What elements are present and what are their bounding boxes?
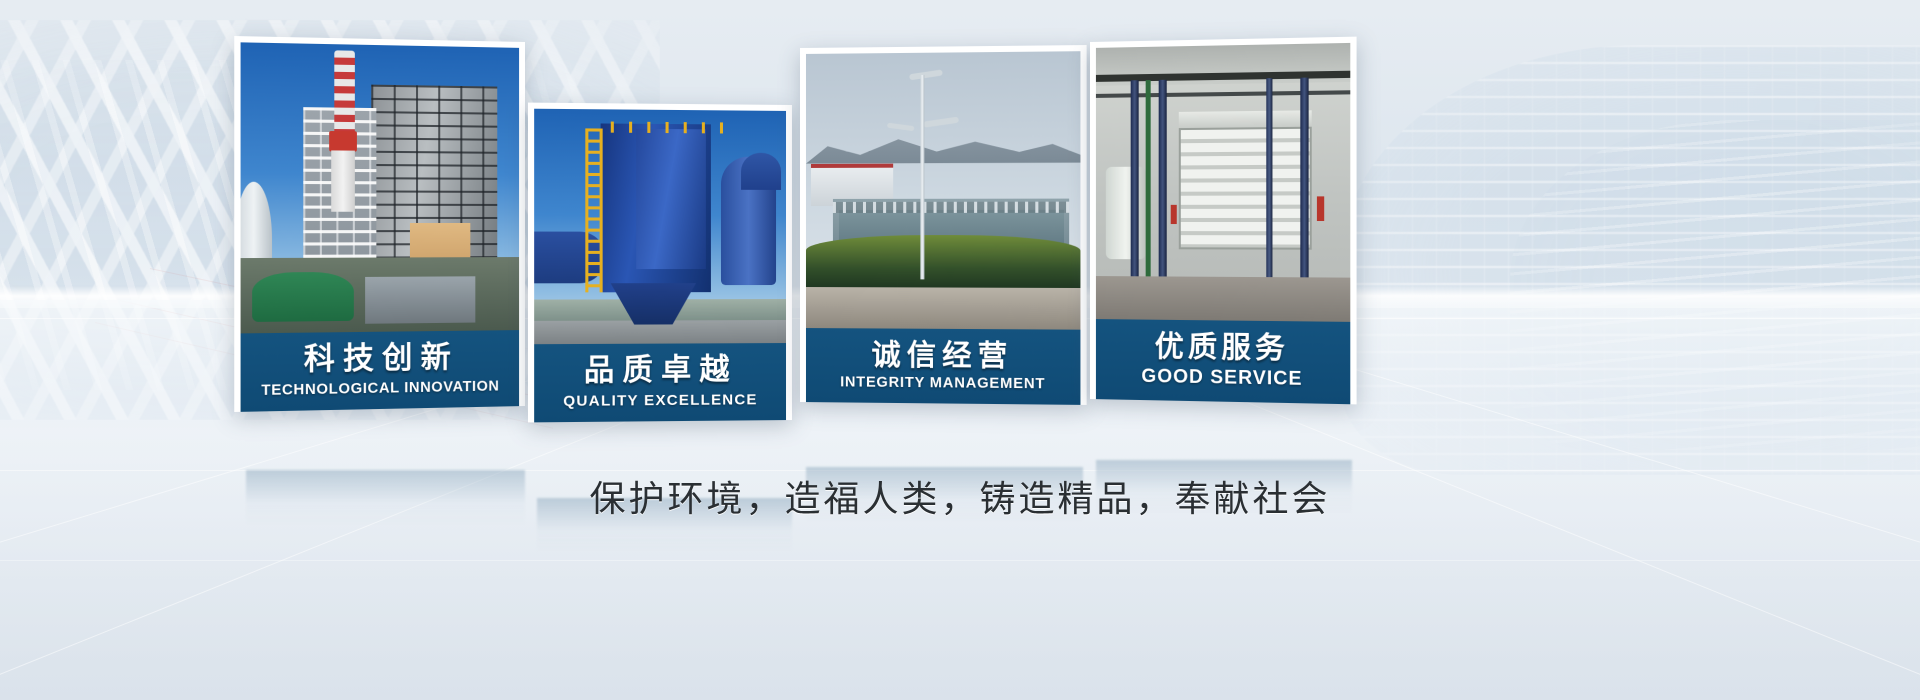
photo-membrane-top [1178,110,1311,128]
photo-white-tank [1106,167,1146,260]
photo-lamp-pole [920,75,924,279]
photo-red-valve [1317,196,1324,221]
photo-blue-pipe [1300,77,1308,288]
photo-red-valve [1171,205,1177,224]
photo-equipment-box [365,277,475,324]
panel-caption: 诚信经营 INTEGRITY MANAGEMENT [806,328,1080,405]
photo-blue-pipe [1158,79,1166,287]
photo-yellow-railing [610,121,723,134]
photo-walkway [833,202,1069,213]
panel-photo-dust-collector [534,109,786,344]
photo-chimney-band [329,131,357,152]
photo-duct-elbow [741,152,781,189]
banner-stage: 科技创新 TECHNOLOGICAL INNOVATION 品质卓越 QUALI… [0,0,1920,700]
panel-caption-cn: 优质服务 [1100,329,1346,365]
panel-caption: 科技创新 TECHNOLOGICAL INNOVATION [241,330,520,411]
photo-membrane-rack [1178,127,1311,249]
feature-panel-quality-excellence[interactable]: 品质卓越 QUALITY EXCELLENCE [528,103,792,422]
feature-panel-good-service[interactable]: 优质服务 GOOD SERVICE [1090,37,1357,405]
banner-slogan: 保护环境，造福人类，铸造精品，奉献社会 [0,470,1920,522]
photo-floor [1096,276,1350,322]
panel-caption-cn: 品质卓越 [538,353,782,388]
photo-blue-pipe [1266,78,1272,288]
panel-caption-en: QUALITY EXCELLENCE [538,391,782,410]
photo-collector-face [636,128,706,268]
photo-yellow-ladder [585,128,603,292]
panel-caption-cn: 诚信经营 [810,338,1076,373]
panel-caption-cn: 科技创新 [245,340,515,378]
photo-green-pipe [1146,80,1151,282]
photo-road [806,287,1080,330]
panel-caption-en: TECHNOLOGICAL INNOVATION [245,378,515,399]
panel-caption-en: GOOD SERVICE [1100,366,1346,393]
floor-line [0,560,1920,561]
panel-photo-treatment-plant [806,51,1080,329]
photo-green-tank [252,272,354,322]
photo-chimney-lower [332,151,356,212]
panel-caption: 优质服务 GOOD SERVICE [1096,319,1350,405]
feature-panel-integrity-management[interactable]: 诚信经营 INTEGRITY MANAGEMENT [800,45,1087,405]
photo-hedge [806,235,1080,291]
panel-caption: 品质卓越 QUALITY EXCELLENCE [534,343,786,422]
photo-blue-pipe [1131,80,1139,287]
feature-panel-technological-innovation[interactable]: 科技创新 TECHNOLOGICAL INNOVATION [234,36,525,412]
panel-photo-ro-membrane-room [1096,43,1350,322]
panel-photo-industrial-stack [241,42,520,333]
panel-caption-en: INTEGRITY MANAGEMENT [810,375,1076,394]
